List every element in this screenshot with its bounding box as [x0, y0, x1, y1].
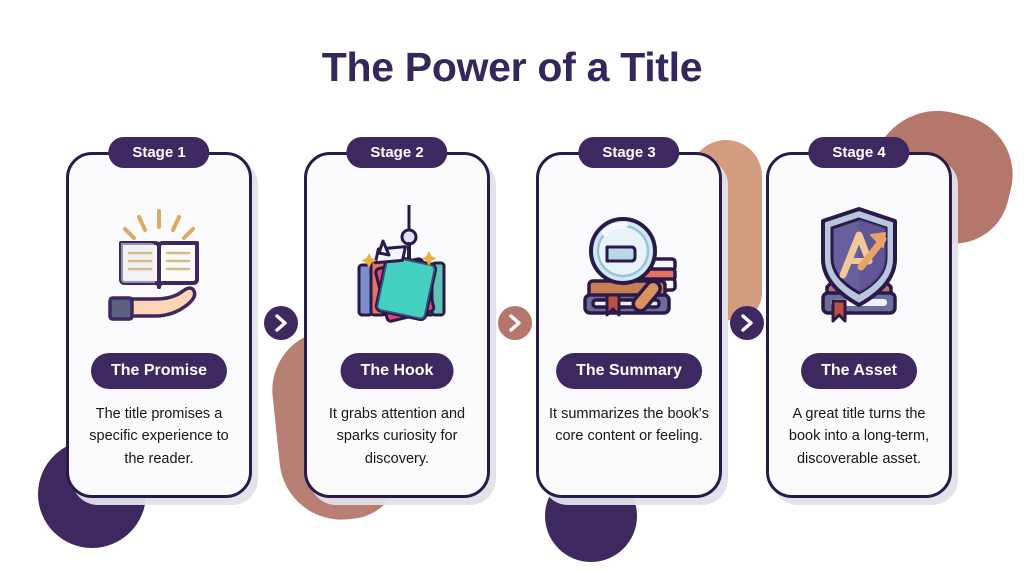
open-book-on-hand-icon: [69, 183, 249, 343]
connector-chevron-1: [264, 306, 298, 340]
fish-hook-with-books-icon: [307, 183, 487, 343]
connector-chevron-3: [730, 306, 764, 340]
connector-chevron-2: [498, 306, 532, 340]
stage-badge-3: Stage 3: [578, 137, 679, 168]
stage-card-3[interactable]: Stage 3 The Su: [536, 152, 722, 498]
stage-card-1[interactable]: Stage 1: [66, 152, 252, 498]
stage-label-2: The Hook: [341, 353, 454, 389]
chevron-right-icon: [274, 314, 288, 332]
magnifying-glass-over-books-icon: [539, 183, 719, 343]
stage-label-4: The Asset: [801, 353, 917, 389]
stage-description-4: A great title turns the book into a long…: [779, 403, 939, 470]
stage-description-3: It summarizes the book's core content or…: [549, 403, 709, 448]
stage-badge-4: Stage 4: [808, 137, 909, 168]
stage-description-1: The title promises a specific experience…: [79, 403, 239, 470]
infographic-canvas: The Power of a Title Stage 1: [0, 0, 1024, 572]
chevron-right-icon: [508, 314, 522, 332]
page-title: The Power of a Title: [0, 44, 1024, 91]
shield-with-growth-arrow-icon: [769, 183, 949, 343]
stage-description-2: It grabs attention and sparks curiosity …: [317, 403, 477, 470]
chevron-right-icon: [740, 314, 754, 332]
stage-badge-1: Stage 1: [108, 137, 209, 168]
stage-badge-2: Stage 2: [346, 137, 447, 168]
stage-label-3: The Summary: [556, 353, 702, 389]
stage-card-4[interactable]: Stage 4 The Asset A great title turns th…: [766, 152, 952, 498]
stage-card-2[interactable]: Stage 2: [304, 152, 490, 498]
stage-label-1: The Promise: [91, 353, 227, 389]
